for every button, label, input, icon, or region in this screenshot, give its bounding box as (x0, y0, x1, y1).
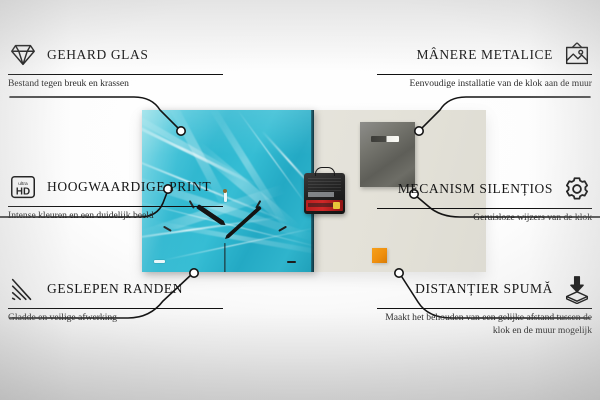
battery-terminal (333, 202, 340, 209)
foam-spacer (372, 248, 387, 263)
feature-description: Intense kleuren en een duidelijk beeld (8, 210, 223, 223)
feature-description: Eenvoudige installatie van de klok aan d… (377, 78, 592, 91)
feature-header: MECANISM SILENȚIOS (377, 172, 592, 206)
feature-header: MÂNERE METALICE (377, 38, 592, 72)
feature-divider (8, 308, 223, 309)
feature-foam-spacer: DISTANȚIER SPUMĂ Maakt het behouden van … (377, 272, 592, 338)
feature-title: GESLEPEN RANDEN (47, 281, 183, 297)
feature-header: DISTANȚIER SPUMĂ (377, 272, 592, 306)
feature-metal-handles: MÂNERE METALICE Eenvoudige installatie v… (377, 38, 592, 91)
feature-title: DISTANȚIER SPUMĂ (415, 281, 553, 297)
mechanism-label (308, 192, 334, 197)
gear-icon (562, 174, 592, 204)
feature-tempered-glass: GEHARD GLAS Bestand tegen breuk en krass… (8, 38, 223, 91)
feature-title: MÂNERE METALICE (416, 47, 553, 63)
mounting-slot (371, 136, 399, 142)
feature-description: Geruisloze wijzers van de klok (377, 212, 592, 225)
feature-silent-mechanism: MECANISM SILENȚIOS Geruisloze wijzers va… (377, 172, 592, 225)
feature-description: Bestand tegen breuk en krassen (8, 78, 223, 91)
feature-title: HOOGWAARDIGE PRINT (47, 179, 211, 195)
clock-center-cap (223, 189, 227, 193)
feature-title: GEHARD GLAS (47, 47, 148, 63)
ultra-hd-icon: ultra HD (8, 172, 38, 202)
feature-divider (377, 308, 592, 309)
svg-text:HD: HD (16, 187, 30, 198)
clock-tick (225, 261, 296, 263)
silent-clock-mechanism (304, 173, 345, 214)
clock-minute-hand (224, 205, 262, 240)
feature-header: ultra HD HOOGWAARDIGE PRINT (8, 170, 223, 204)
feature-divider (377, 208, 592, 209)
feature-divider (377, 74, 592, 75)
feature-ground-edges: GESLEPEN RANDEN Gladde en veilige afwerk… (8, 272, 223, 325)
hanging-picture-icon (562, 40, 592, 70)
feature-header: GEHARD GLAS (8, 38, 223, 72)
clock-tick (154, 261, 225, 263)
battery-band (308, 203, 334, 207)
feature-divider (8, 74, 223, 75)
down-arrow-stack-icon (562, 274, 592, 304)
diamond-icon (8, 40, 38, 70)
feature-description: Maakt het behouden van een gelijke afsta… (377, 312, 592, 338)
feature-title: MECANISM SILENȚIOS (398, 181, 553, 197)
feature-high-quality-print: ultra HD HOOGWAARDIGE PRINT Intense kleu… (8, 170, 223, 223)
mechanism-grill (308, 178, 341, 191)
mechanism-hanger (315, 167, 335, 176)
feature-description: Gladde en veilige afwerking (8, 312, 223, 325)
product-infographic: GEHARD GLAS Bestand tegen breuk en krass… (0, 0, 600, 400)
battery (306, 200, 343, 211)
diagonal-lines-icon (8, 274, 38, 304)
feature-divider (8, 206, 223, 207)
feature-header: GESLEPEN RANDEN (8, 272, 223, 306)
